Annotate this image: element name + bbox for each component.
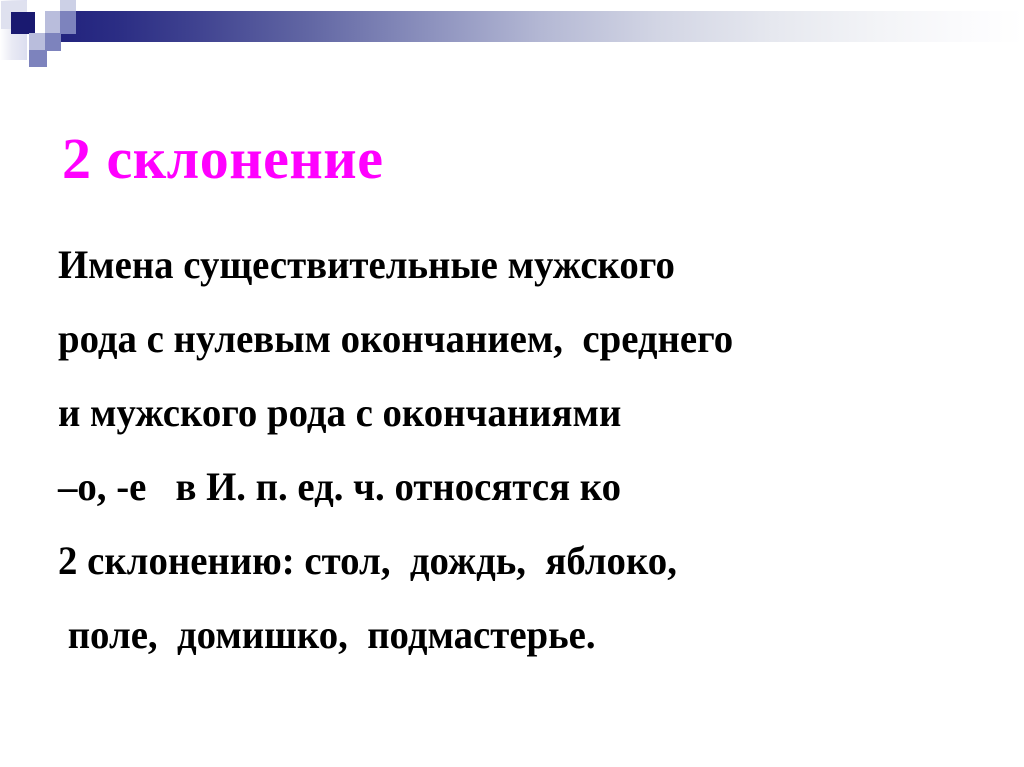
body-line: рода с нулевым окончанием, среднего bbox=[58, 302, 960, 376]
mosaic-square-mid-1 bbox=[60, 11, 76, 34]
body-line: поле, домишко, подмастерье. bbox=[58, 598, 960, 672]
header-gradient-bar bbox=[60, 11, 1024, 42]
body-line: Имена существительные мужского bbox=[58, 228, 960, 302]
mosaic-square-mid-3 bbox=[29, 50, 47, 67]
slide-body-text: Имена существительные мужского рода с ну… bbox=[58, 228, 988, 672]
body-line: 2 склонению: стол, дождь, яблоко, bbox=[58, 524, 960, 598]
mosaic-square-navy bbox=[11, 12, 35, 34]
body-line: –о, -е в И. п. ед. ч. относятся ко bbox=[58, 450, 960, 524]
slide-header-decoration bbox=[0, 0, 1024, 72]
mosaic-square-mid-2 bbox=[45, 33, 61, 51]
slide-title: 2 склонение bbox=[62, 127, 383, 191]
body-line: и мужского рода с окончаниями bbox=[58, 376, 960, 450]
slide-canvas: 2 склонение Имена существительные мужско… bbox=[0, 0, 1024, 767]
